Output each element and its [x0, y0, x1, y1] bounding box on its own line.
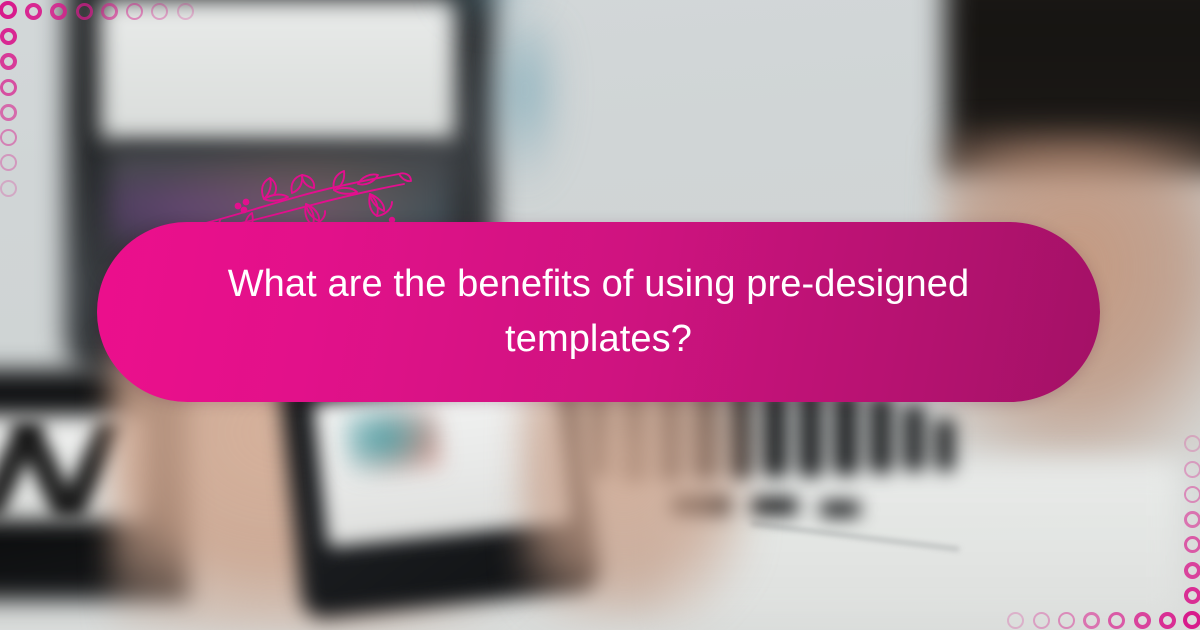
background-tablet-screen [100, 0, 455, 140]
background-keyboard-key [820, 501, 860, 517]
background-keyboard-key [750, 497, 798, 515]
background-smartphone-content [341, 395, 443, 480]
headline-banner: What are the benefits of using pre-desig… [97, 222, 1100, 402]
background-keyboard-key [870, 395, 892, 473]
headline-text: What are the benefits of using pre-desig… [179, 257, 1019, 367]
background-teal-accent [480, 20, 570, 195]
promo-card: What are the benefits of using pre-desig… [0, 0, 1200, 630]
background-keyboard-key [936, 419, 954, 471]
background-keyboard-key [904, 405, 924, 471]
